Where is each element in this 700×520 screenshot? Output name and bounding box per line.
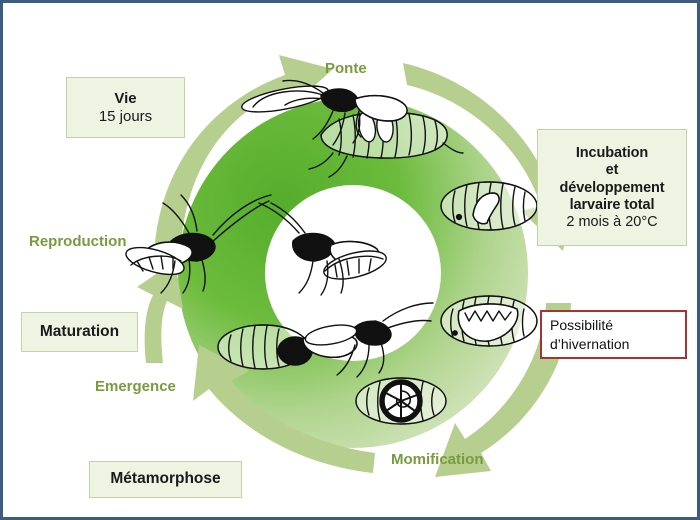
wasp-pupa-in-mummy-illustration: [356, 378, 446, 424]
callout-incubation-line-4: larvaire total: [570, 197, 655, 214]
wasp-emerging-from-mummy-illustration: [218, 303, 433, 377]
parasitized-aphid-larva-illustration: [441, 182, 537, 230]
callout-hivernation-line-2: d’hivernation: [550, 335, 629, 354]
callout-metamorphose: Métamorphose: [89, 461, 242, 498]
callout-incubation-line-1: Incubation: [576, 145, 648, 162]
stage-label-momification: Momification: [391, 451, 484, 468]
callout-vie: Vie 15 jours: [66, 77, 185, 138]
callout-vie-line-1: Vie: [114, 90, 136, 108]
diagram-canvas: Ponte Reproduction Emergence Momificatio…: [3, 3, 697, 517]
mummified-aphid-open-illustration: [441, 296, 537, 346]
callout-vie-line-2: 15 jours: [99, 108, 152, 126]
callout-hivernation-line-1: Possibilité: [550, 316, 613, 335]
callout-maturation: Maturation: [21, 312, 138, 352]
stage-label-ponte: Ponte: [325, 60, 367, 77]
callout-hivernation: Possibilité d’hivernation: [540, 310, 687, 359]
callout-incubation-line-3: développement: [559, 180, 664, 197]
diagram-frame: Ponte Reproduction Emergence Momificatio…: [0, 0, 700, 520]
callout-incubation: Incubation et développement larvaire tot…: [537, 129, 687, 246]
stage-label-reproduction: Reproduction: [29, 233, 127, 250]
callout-maturation-line-1: Maturation: [40, 323, 119, 341]
callout-incubation-line-2: et: [606, 162, 619, 179]
wasp-laying-egg-on-aphid-illustration: [240, 81, 463, 178]
mating-wasps-pair-illustration: [123, 195, 389, 295]
stage-label-emergence: Emergence: [95, 378, 176, 395]
callout-incubation-line-5: 2 mois à 20°C: [566, 214, 657, 230]
callout-metamorphose-line-1: Métamorphose: [110, 470, 220, 488]
